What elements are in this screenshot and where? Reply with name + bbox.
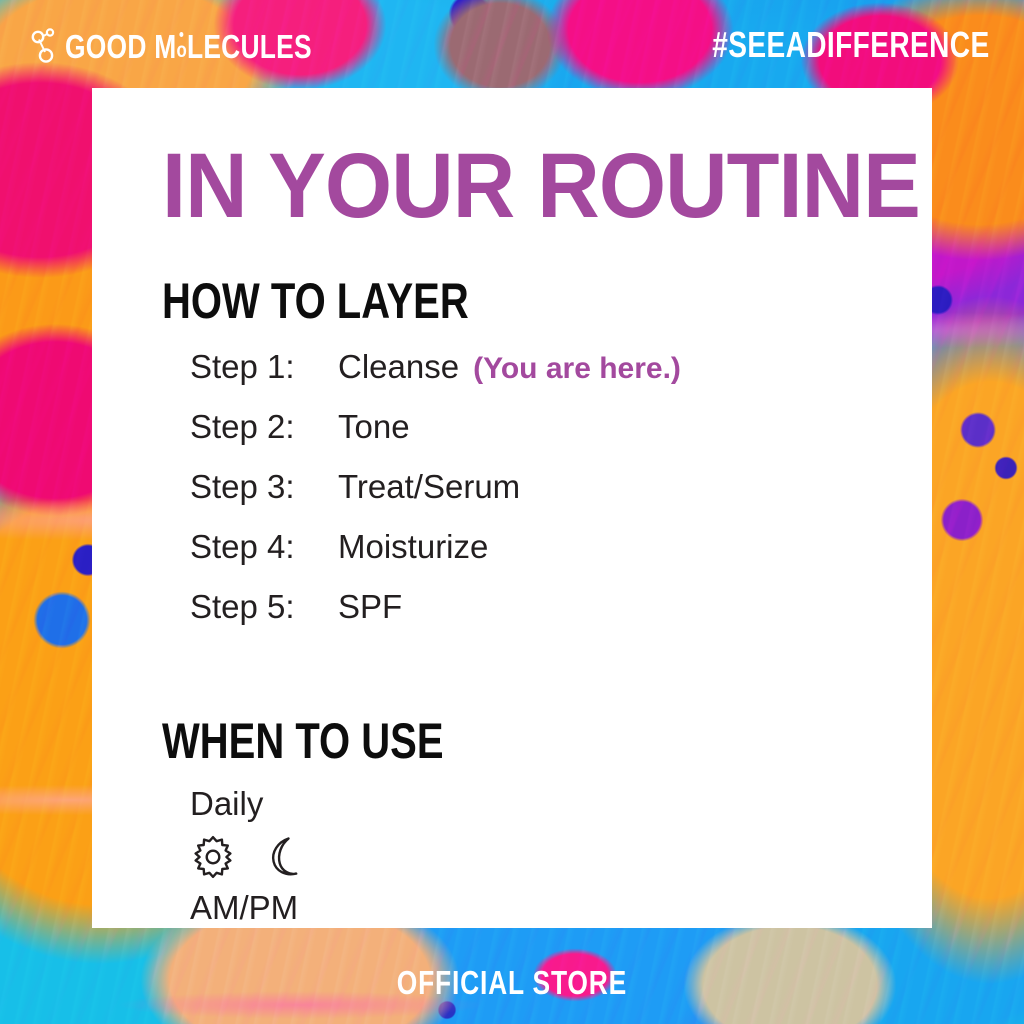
step-row: Step 5: SPF — [190, 588, 932, 648]
brand-name: GOOD MoLECULES — [65, 30, 312, 63]
official-store-label: OFFICIAL STORE — [397, 964, 627, 1002]
step-label: Step 4: — [190, 528, 338, 566]
usage-time-of-day: AM/PM — [190, 890, 932, 926]
official-store-tag: OFFICIAL STORE — [0, 964, 1024, 1002]
step-value: SPF — [338, 588, 402, 626]
step-value: Tone — [338, 408, 410, 446]
step-row: Step 2: Tone — [190, 408, 932, 468]
page-title: IN YOUR ROUTINE — [162, 140, 886, 232]
when-to-use-heading: WHEN TO USE — [162, 716, 778, 766]
how-to-layer-heading: HOW TO LAYER — [162, 276, 778, 326]
step-row: Step 4: Moisturize — [190, 528, 932, 588]
brand-name-o: o — [176, 39, 187, 62]
sun-icon — [190, 834, 236, 880]
step-label: Step 5: — [190, 588, 338, 626]
step-value: Moisturize — [338, 528, 488, 566]
brand-name-part2: LECULES — [187, 28, 312, 65]
step-row: Step 1: Cleanse (You are here.) — [190, 348, 932, 408]
step-label: Step 1: — [190, 348, 338, 386]
step-value: Cleanse — [338, 348, 459, 386]
brand-lockup: GOOD MoLECULES — [30, 26, 374, 66]
step-value: Treat/Serum — [338, 468, 520, 506]
moon-icon — [258, 834, 304, 880]
step-label: Step 2: — [190, 408, 338, 446]
step-label: Step 3: — [190, 468, 338, 506]
when-to-use-body: Daily AM/PM — [190, 786, 932, 927]
time-of-day-icons — [190, 834, 932, 880]
step-row: Step 3: Treat/Serum — [190, 468, 932, 528]
you-are-here-note: (You are here.) — [473, 352, 681, 386]
content-card: IN YOUR ROUTINE HOW TO LAYER Step 1: Cle… — [92, 88, 932, 928]
brand-name-part1: GOOD M — [65, 28, 176, 65]
usage-frequency: Daily — [190, 786, 932, 822]
molecule-icon — [30, 26, 56, 66]
steps-list: Step 1: Cleanse (You are here.) Step 2: … — [190, 348, 932, 648]
campaign-hashtag: #SEEADIFFERENCE — [713, 24, 990, 66]
poster-canvas: GOOD MoLECULES #SEEADIFFERENCE IN YOUR R… — [0, 0, 1024, 1024]
